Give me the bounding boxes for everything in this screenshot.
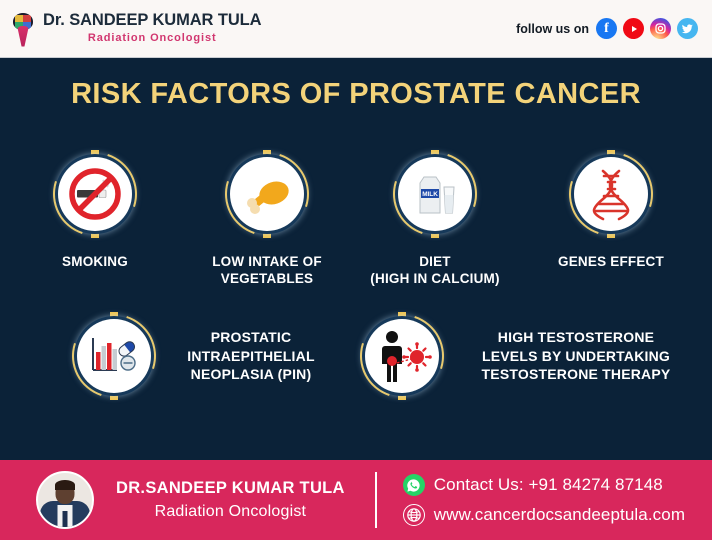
risk-factor-diet-calcium: MILK DIET (HIGH IN CALCIUM) [346,146,524,288]
facebook-icon[interactable]: f [596,18,617,39]
brand-name: Dr. SANDEEP KUMAR TULA [43,12,261,29]
milk-carton-icon: MILK [398,157,472,231]
no-smoking-icon [58,157,132,231]
footer-doctor-block: DR.SANDEEP KUMAR TULA Radiation Oncologi… [0,471,345,529]
page-footer: DR.SANDEEP KUMAR TULA Radiation Oncologi… [0,460,712,540]
risk-factor-smoking: SMOKING [6,146,184,288]
risk-factor-label: LOW INTAKE OF VEGETABLES [212,254,322,288]
doctor-photo [36,471,94,529]
instagram-icon[interactable] [650,18,671,39]
website-text: www.cancerdocsandeeptula.com [434,505,685,525]
risk-factor-testosterone: HIGH TESTOSTERONE LEVELS BY UNDERTAKING … [354,308,688,404]
icon-ring [219,146,315,242]
chicken-drumstick-icon [230,157,304,231]
whatsapp-icon [403,474,425,496]
icon-ring [354,308,450,404]
brand-subtitle: Radiation Oncologist [43,33,261,45]
brand: Dr. SANDEEP KUMAR TULA Radiation Oncolog… [10,9,261,49]
twitter-icon[interactable] [677,18,698,39]
risk-factor-label: SMOKING [62,254,128,271]
contact-text: Contact Us: +91 84274 87148 [434,475,663,495]
globe-icon [403,504,425,526]
page-header: Dr. SANDEEP KUMAR TULA Radiation Oncolog… [0,0,712,58]
svg-text:MILK: MILK [422,191,438,198]
icon-ring [66,308,162,404]
risk-factors-row-1: SMOKING LOW INTAKE OF VEGETABLES [0,146,712,288]
footer-doctor-role: Radiation Oncologist [155,503,307,521]
risk-factor-label: GENES EFFECT [558,254,664,271]
risk-factor-low-vegetables: LOW INTAKE OF VEGETABLES [178,146,356,288]
risk-factor-label: HIGH TESTOSTERONE LEVELS BY UNDERTAKING … [464,328,688,383]
icon-ring [563,146,659,242]
follow-us-label: follow us on [516,22,589,36]
bar-chart-pills-icon [77,319,151,393]
risk-factor-label: DIET (HIGH IN CALCIUM) [370,254,499,288]
dna-helix-icon [574,157,648,231]
icon-ring: MILK [387,146,483,242]
page-title: RISK FACTORS OF PROSTATE CANCER [0,78,712,111]
footer-doctor-name: DR.SANDEEP KUMAR TULA [116,479,345,498]
male-body-virus-icon [365,319,439,393]
risk-factors-row-2: PROSTATIC INTRAEPITHELIAL NEOPLASIA (PIN… [0,308,712,404]
footer-divider [375,472,377,528]
risk-factor-label: PROSTATIC INTRAEPITHELIAL NEOPLASIA (PIN… [176,328,326,383]
icon-ring [47,146,143,242]
youtube-icon[interactable] [623,18,644,39]
social-links: follow us on f [516,18,698,39]
risk-factor-genes: GENES EFFECT [522,146,700,288]
website-row[interactable]: www.cancerdocsandeeptula.com [403,504,685,526]
risk-factor-pin: PROSTATIC INTRAEPITHELIAL NEOPLASIA (PIN… [66,308,326,404]
footer-contact-block: Contact Us: +91 84274 87148 www.cancerdo… [403,474,685,526]
clinic-logo-icon [10,9,36,49]
contact-row[interactable]: Contact Us: +91 84274 87148 [403,474,685,496]
